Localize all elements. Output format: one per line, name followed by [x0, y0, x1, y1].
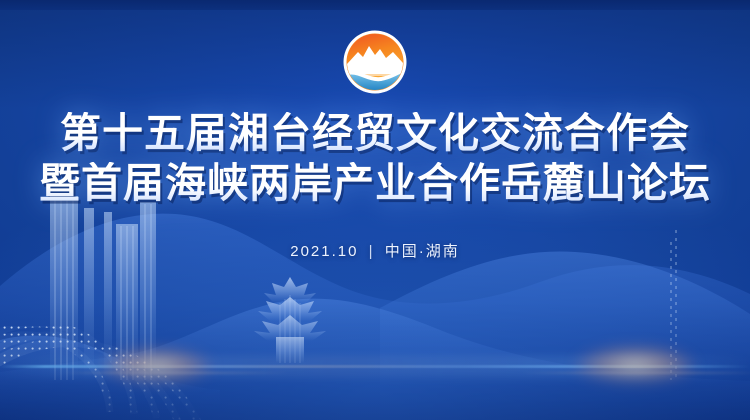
event-poster: 第十五届湘台经贸文化交流合作会 暨首届海峡两岸产业合作岳麓山论坛 2021.10… [0, 0, 750, 420]
event-location: 中国·湖南 [385, 243, 460, 260]
event-date: 2021.10 [290, 243, 358, 260]
event-logo [341, 28, 409, 96]
mountain-sun-water-circle-logo [341, 28, 409, 96]
subtitle-block: 2021.10 | 中国·湖南 [0, 240, 750, 261]
subtitle-separator: | [369, 243, 375, 260]
title-block: 第十五届湘台经贸文化交流合作会 暨首届海峡两岸产业合作岳麓山论坛 [0, 112, 750, 206]
title-line-1: 第十五届湘台经贸文化交流合作会 [0, 112, 750, 155]
title-line-2: 暨首届海峡两岸产业合作岳麓山论坛 [0, 162, 750, 205]
